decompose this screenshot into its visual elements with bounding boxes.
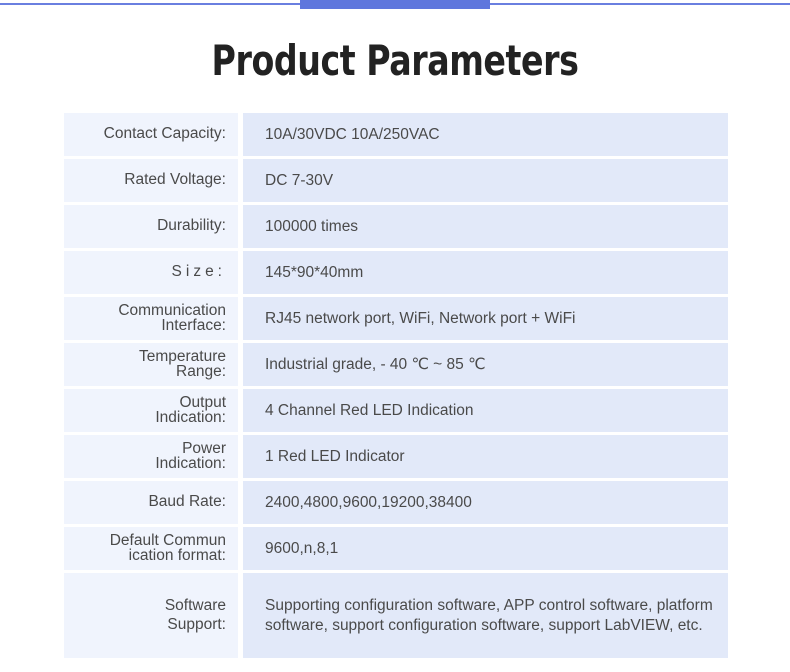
product-parameters-table: Contact Capacity: 10A/30VDC 10A/250VAC R… — [64, 113, 728, 661]
param-label-power-indication: Power Indication: — [64, 435, 238, 478]
table-row: Durability: 100000 times — [64, 205, 728, 248]
label-text: Contact Capacity: — [104, 127, 226, 142]
label-line-2: ication format: — [129, 547, 226, 564]
label-line-2: Indication: — [155, 409, 226, 426]
top-accent-bar — [0, 0, 790, 14]
table-row: Rated Voltage: DC 7-30V — [64, 159, 728, 202]
label-text: Size: — [172, 265, 226, 280]
table-row: Power Indication: 1 Red LED Indicator — [64, 435, 728, 478]
param-label-rated-voltage: Rated Voltage: — [64, 159, 238, 202]
table-row: Temperature Range: Industrial grade, - 4… — [64, 343, 728, 386]
accent-line-thick — [300, 0, 490, 9]
label-text: Rated Voltage: — [124, 173, 226, 188]
table-row: Default Commun ication format: 9600,n,8,… — [64, 527, 728, 570]
param-value-durability: 100000 times — [243, 205, 728, 248]
param-label-durability: Durability: — [64, 205, 238, 248]
param-value-baud-rate: 2400,4800,9600,19200,38400 — [243, 481, 728, 524]
param-value-contact-capacity: 10A/30VDC 10A/250VAC — [243, 113, 728, 156]
label-text: Baud Rate: — [148, 495, 226, 510]
table-row: Software Support: Supporting configurati… — [64, 573, 728, 658]
param-value-rated-voltage: DC 7-30V — [243, 159, 728, 202]
label-text: Communication Interface: — [118, 304, 226, 333]
param-value-output-indication: 4 Channel Red LED Indication — [243, 389, 728, 432]
param-value-size: 145*90*40mm — [243, 251, 728, 294]
param-label-temperature-range: Temperature Range: — [64, 343, 238, 386]
param-value-default-communication-format: 9600,n,8,1 — [243, 527, 728, 570]
table-row: Size: 145*90*40mm — [64, 251, 728, 294]
table-row: Baud Rate: 2400,4800,9600,19200,38400 — [64, 481, 728, 524]
label-text: Temperature Range: — [139, 350, 226, 379]
page-title: Product Parameters — [47, 36, 742, 85]
param-label-size: Size: — [64, 251, 238, 294]
param-value-temperature-range: Industrial grade, - 40 ℃ ~ 85 ℃ — [243, 343, 728, 386]
param-label-contact-capacity: Contact Capacity: — [64, 113, 238, 156]
label-line-2: Support: — [167, 616, 226, 633]
param-label-default-communication-format: Default Commun ication format: — [64, 527, 238, 570]
param-label-software-support: Software Support: — [64, 573, 238, 658]
param-value-power-indication: 1 Red LED Indicator — [243, 435, 728, 478]
label-line-2: Range: — [176, 363, 226, 380]
label-line-2: Interface: — [161, 317, 226, 334]
param-label-baud-rate: Baud Rate: — [64, 481, 238, 524]
table-row: Communication Interface: RJ45 network po… — [64, 297, 728, 340]
label-line-2: Indication: — [155, 455, 226, 472]
label-text: Durability: — [157, 219, 226, 234]
param-label-communication-interface: Communication Interface: — [64, 297, 238, 340]
label-text: Default Commun ication format: — [110, 534, 226, 563]
table-row: Output Indication: 4 Channel Red LED Ind… — [64, 389, 728, 432]
param-value-communication-interface: RJ45 network port, WiFi, Network port + … — [243, 297, 728, 340]
label-line-1: Software — [165, 597, 226, 614]
param-value-software-support: Supporting configuration software, APP c… — [243, 573, 728, 658]
label-text: Power Indication: — [155, 442, 226, 471]
param-label-output-indication: Output Indication: — [64, 389, 238, 432]
label-text: Software Support: — [165, 597, 226, 635]
table-row: Contact Capacity: 10A/30VDC 10A/250VAC — [64, 113, 728, 156]
label-text: Output Indication: — [155, 396, 226, 425]
